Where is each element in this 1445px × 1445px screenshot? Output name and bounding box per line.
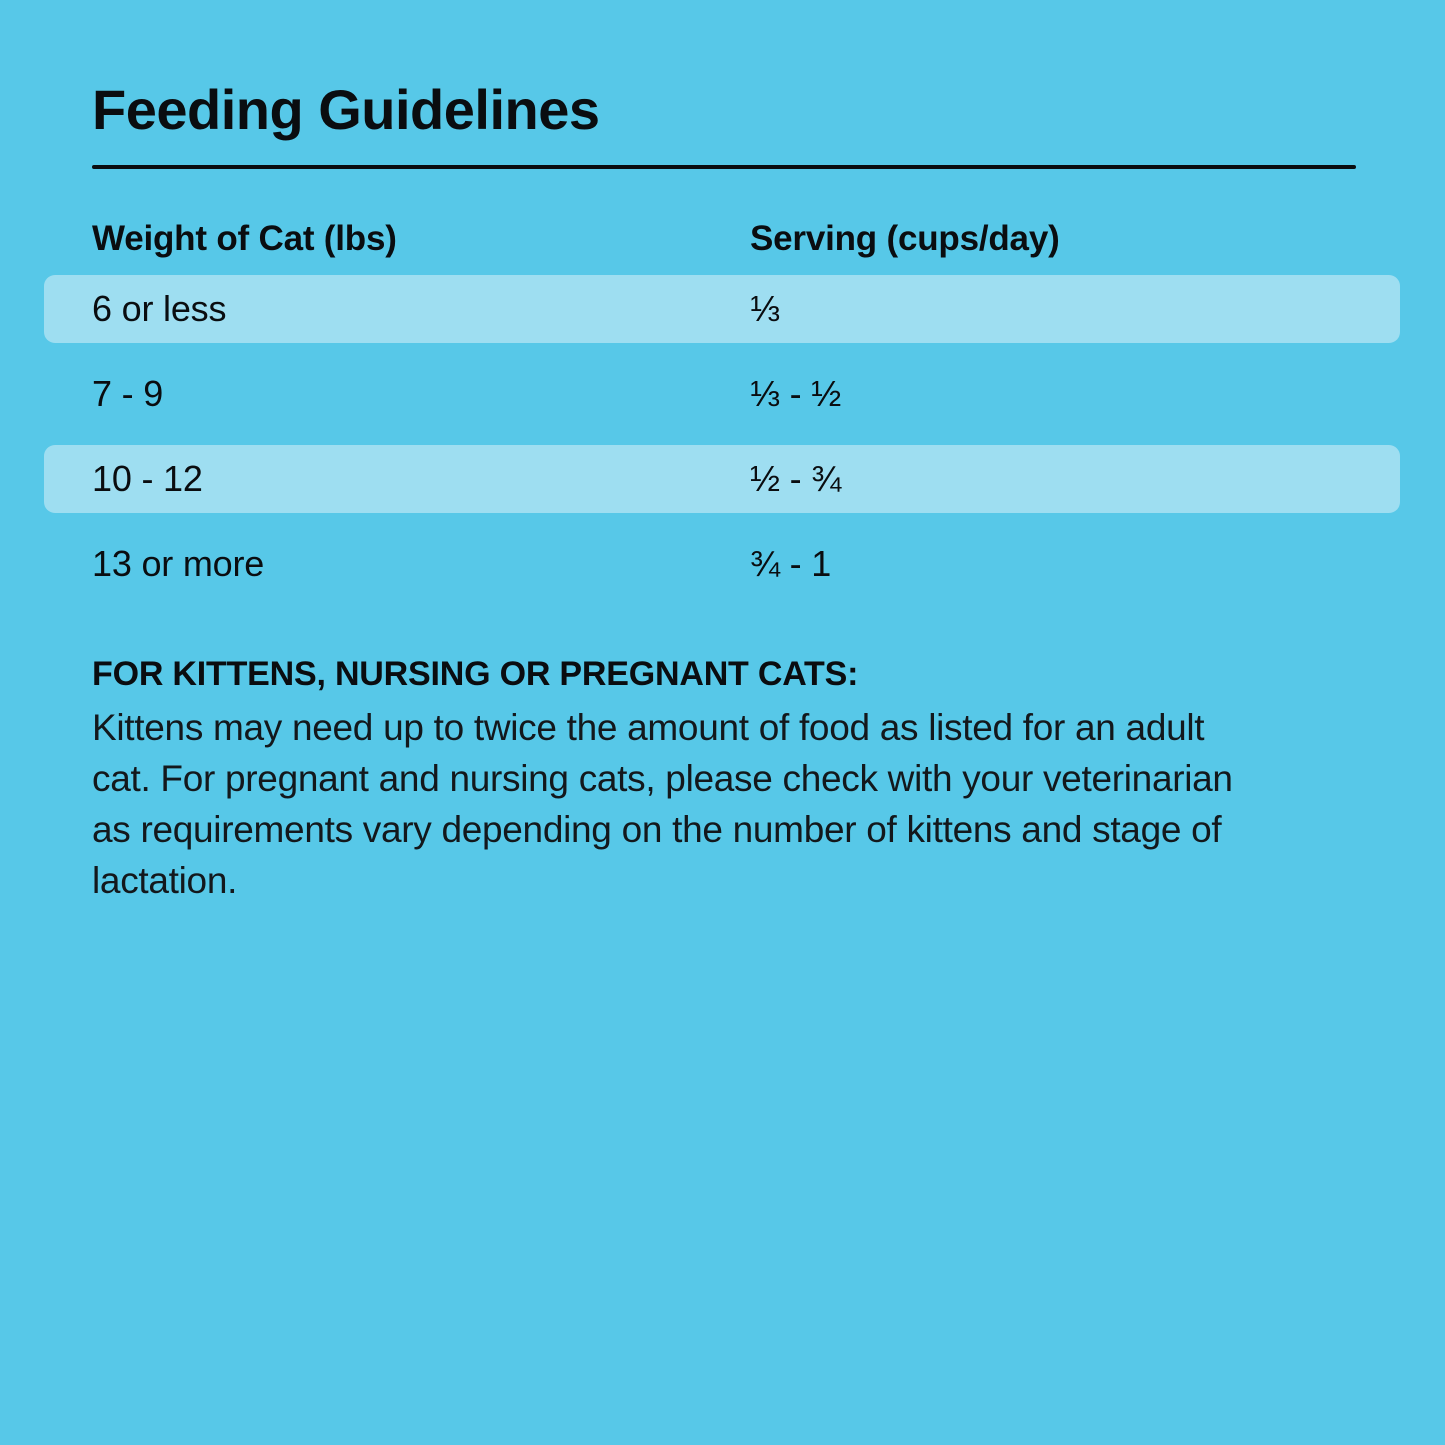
- cell-serving: ⅓ - ½: [750, 373, 841, 415]
- title-divider: [92, 165, 1356, 169]
- table-header-row: Weight of Cat (lbs) Serving (cups/day): [0, 205, 1445, 275]
- cell-serving: ⅓: [750, 288, 780, 330]
- cell-weight: 13 or more: [92, 543, 264, 585]
- feeding-guidelines-panel: Feeding Guidelines Weight of Cat (lbs) S…: [0, 0, 1445, 1445]
- cell-weight: 10 - 12: [92, 458, 203, 500]
- cell-weight: 6 or less: [92, 288, 226, 330]
- feeding-table: Weight of Cat (lbs) Serving (cups/day) 6…: [0, 205, 1445, 598]
- table-row: 13 or more ¾ - 1: [0, 530, 1445, 598]
- column-header-weight: Weight of Cat (lbs): [92, 219, 397, 259]
- kitten-note-block: FOR KITTENS, NURSING OR PREGNANT CATS: K…: [92, 655, 1282, 906]
- cell-serving: ½ - ¾: [750, 458, 841, 500]
- kitten-note-heading: FOR KITTENS, NURSING OR PREGNANT CATS:: [92, 655, 1282, 694]
- column-header-serving: Serving (cups/day): [750, 219, 1060, 259]
- kitten-note-body: Kittens may need up to twice the amount …: [92, 702, 1257, 906]
- cell-weight: 7 - 9: [92, 373, 163, 415]
- cell-serving: ¾ - 1: [750, 543, 831, 585]
- table-row: 7 - 9 ⅓ - ½: [0, 360, 1445, 428]
- table-row: 10 - 12 ½ - ¾: [44, 445, 1400, 513]
- table-row: 6 or less ⅓: [44, 275, 1400, 343]
- page-title: Feeding Guidelines: [92, 82, 600, 138]
- table-body: 6 or less ⅓ 7 - 9 ⅓ - ½ 10 - 12 ½ - ¾ 13…: [0, 275, 1445, 598]
